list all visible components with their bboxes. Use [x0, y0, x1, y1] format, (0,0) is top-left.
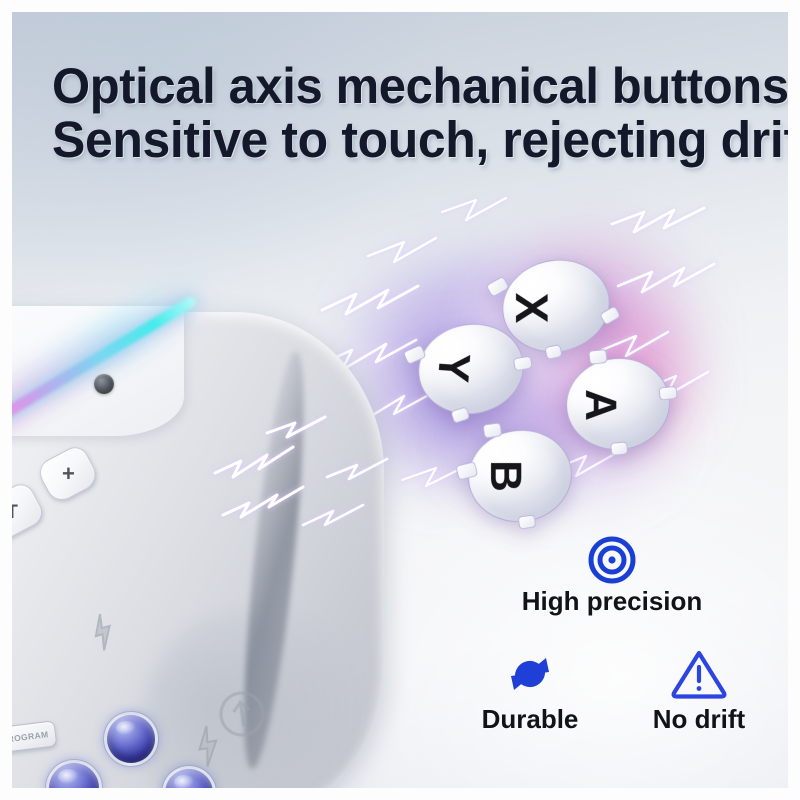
feature-no-drift: No drift — [623, 644, 775, 734]
program-button-label: PROGRAM — [12, 729, 49, 745]
cap-stem — [513, 355, 533, 371]
refresh-icon — [455, 644, 605, 704]
game-controller: + T O MOT PROGRAM — [12, 312, 414, 788]
sensor-dot — [94, 374, 114, 394]
headline-line-1: Optical axis mechanical buttons — [52, 60, 748, 113]
feature-label-precision: High precision — [492, 586, 732, 616]
feature-durable: Durable — [455, 644, 605, 734]
button-cap-y[interactable]: Y — [411, 315, 531, 422]
arrow-up-icon — [213, 685, 272, 744]
cap-letter-y: Y — [404, 312, 501, 424]
feature-high-precision: High precision — [492, 534, 732, 616]
t-button-label: T — [12, 503, 18, 522]
headline: Optical axis mechanical buttons Sensitiv… — [52, 60, 762, 166]
headline-line-2: Sensitive to touch, rejecting drift — [52, 113, 748, 166]
button-cap-b[interactable]: B — [462, 423, 578, 529]
product-marketing-image: + T O MOT PROGRAM — [12, 12, 788, 788]
button-socket-top[interactable] — [104, 712, 158, 766]
feature-label-nodrift: No drift — [623, 704, 775, 734]
cap-letter-b: B — [459, 424, 551, 528]
cap-letter-a: A — [554, 353, 646, 457]
cap-stem — [659, 386, 678, 401]
plus-button-label: + — [62, 463, 75, 485]
button-cap-a[interactable]: A — [561, 353, 674, 455]
image-frame: + T O MOT PROGRAM — [0, 0, 800, 800]
feature-label-durable: Durable — [455, 704, 605, 734]
warning-triangle-icon — [623, 644, 775, 704]
target-icon — [492, 534, 732, 586]
